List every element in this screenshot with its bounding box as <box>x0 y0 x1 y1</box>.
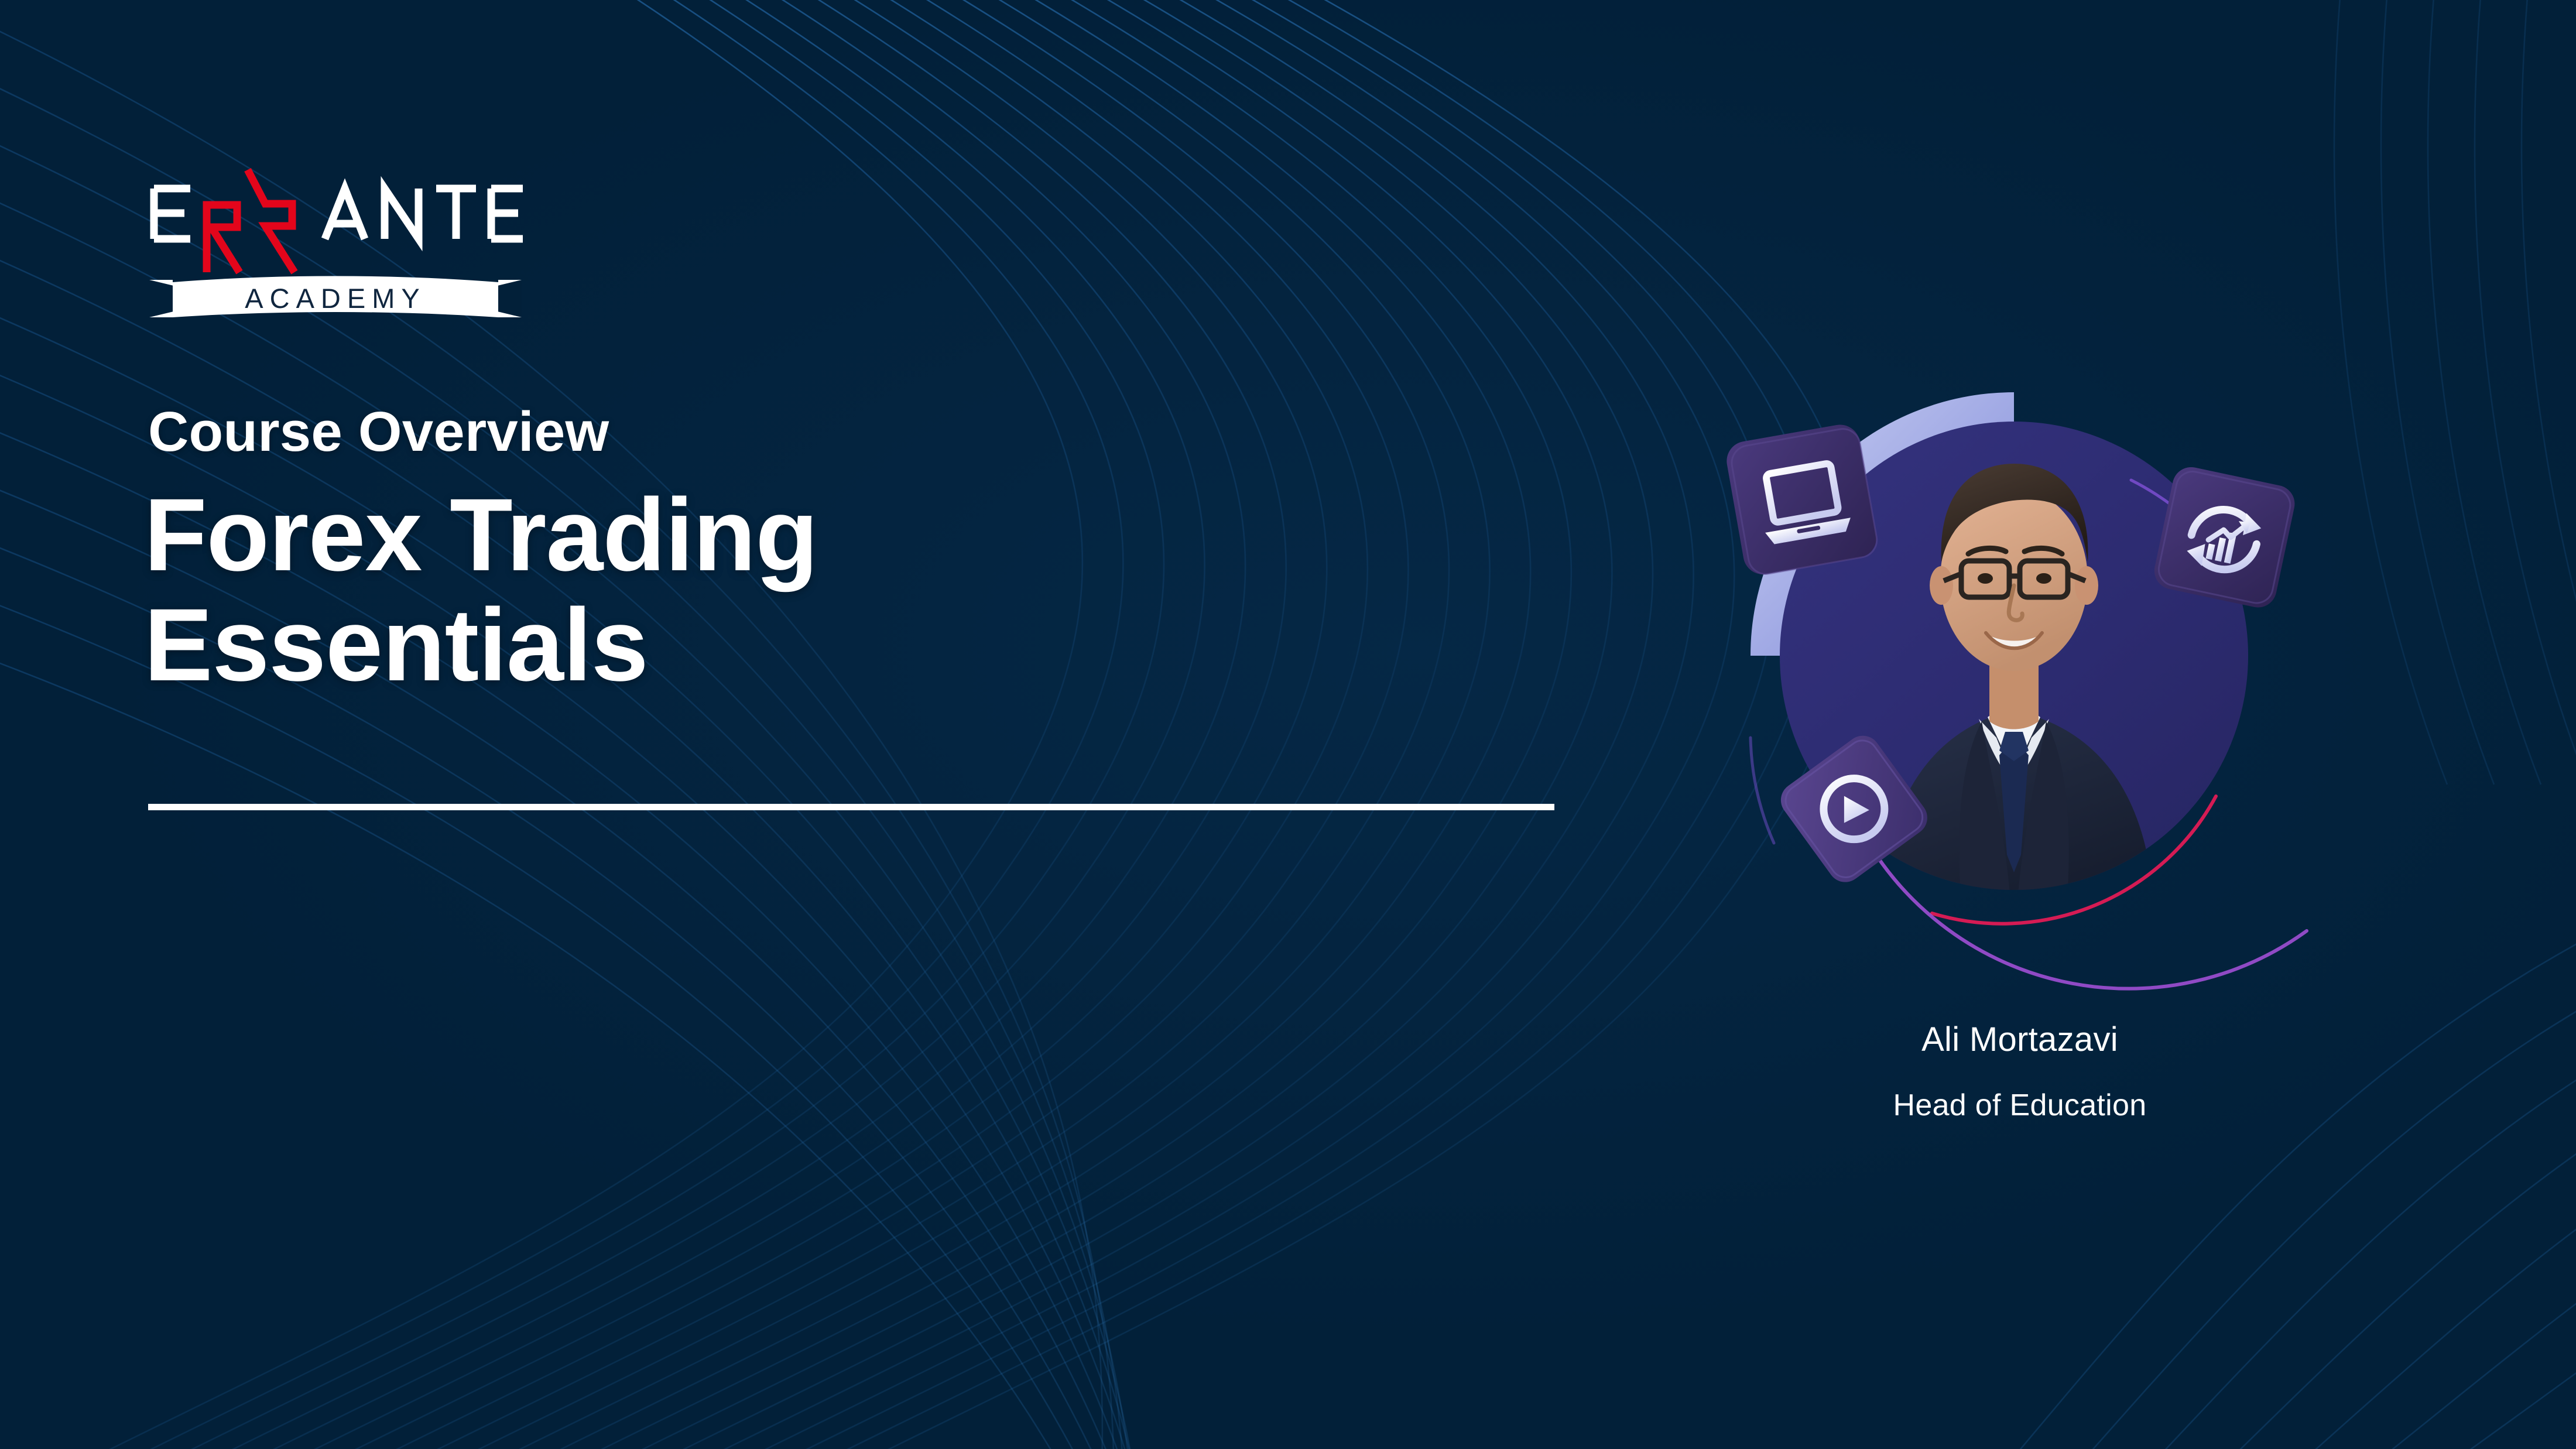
logo-mark: ACADEMY <box>148 164 523 319</box>
badge-market-analysis[interactable] <box>2151 464 2298 611</box>
portrait-composition <box>1686 328 2336 995</box>
errante-academy-logo: ACADEMY <box>148 164 523 319</box>
slide-canvas: ACADEMY Course Overview Forex Trading Es… <box>0 0 2576 1449</box>
presenter-name: Ali Mortazavi <box>1727 1020 2313 1059</box>
presenter-portrait <box>1686 328 2336 995</box>
badge-laptop[interactable] <box>1724 422 1879 577</box>
svg-text:ACADEMY: ACADEMY <box>245 283 426 314</box>
title-divider <box>148 804 1554 810</box>
page-title-line-1: Forex Trading <box>144 480 1256 590</box>
course-kicker: Course Overview <box>148 404 609 460</box>
academy-banner: ACADEMY <box>149 276 522 318</box>
page-title-line-2: Essentials <box>144 590 1256 700</box>
page-title: Forex Trading Essentials <box>144 480 1256 701</box>
presenter-role: Head of Education <box>1727 1088 2313 1123</box>
